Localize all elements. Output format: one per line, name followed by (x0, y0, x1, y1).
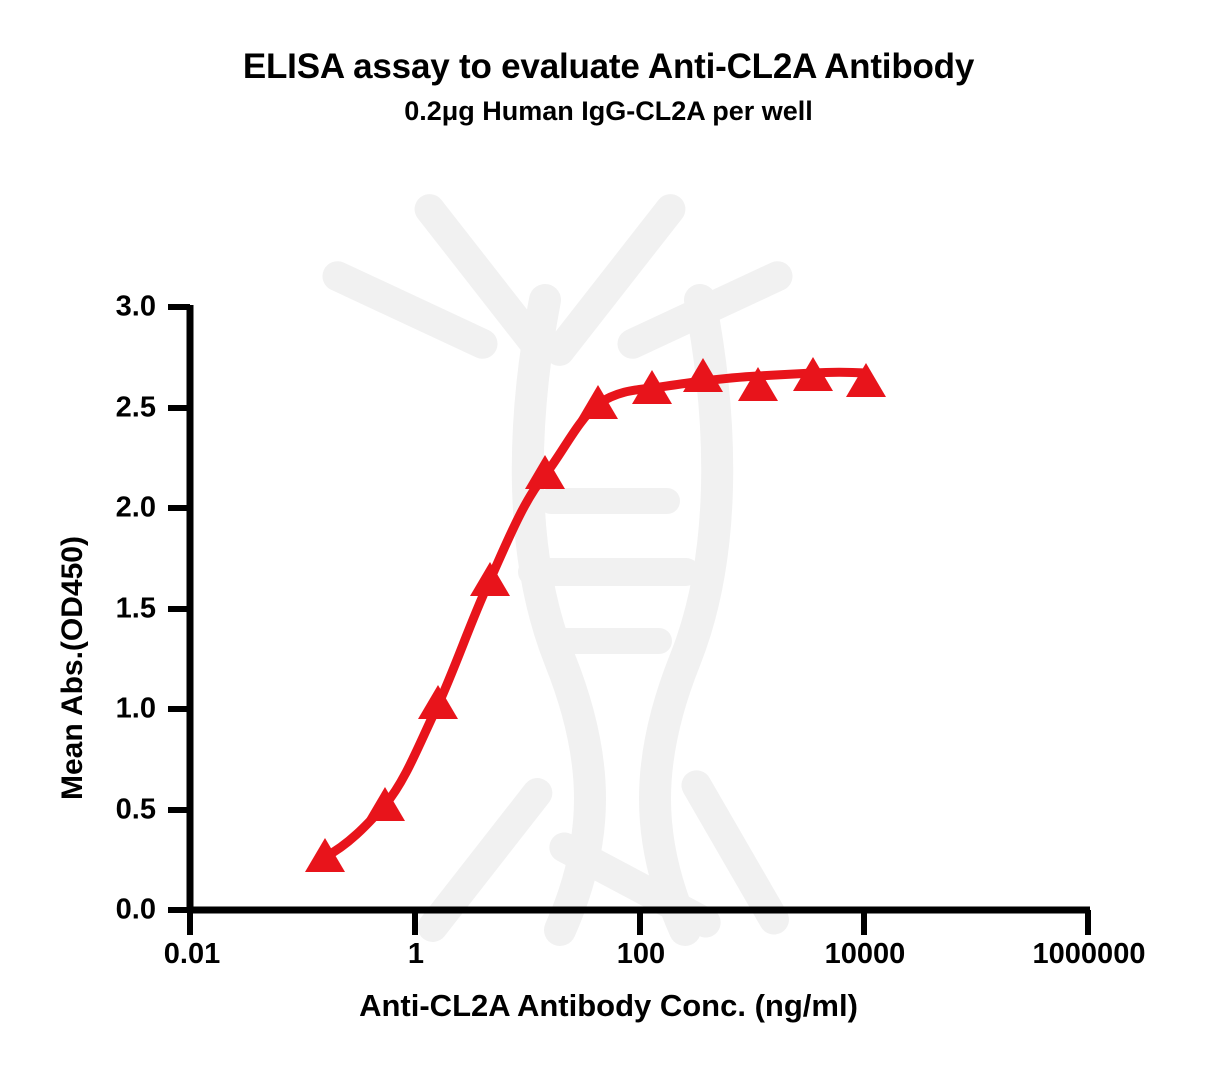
x-tick-label-100: 100 (617, 938, 665, 971)
data-point (470, 562, 510, 596)
data-point (578, 385, 618, 419)
x-tick-label-1000000: 1000000 (1033, 938, 1146, 971)
x-axis-title: Anti-CL2A Antibody Conc. (ng/ml) (0, 988, 1217, 1024)
x-axis-ticks (190, 910, 1088, 935)
y-tick-label-0.0: 0.0 (48, 894, 156, 927)
x-tick-label-10000: 10000 (825, 938, 906, 971)
y-tick-label-2.0: 2.0 (48, 492, 156, 525)
series-line (325, 372, 866, 857)
y-tick-label-3.0: 3.0 (48, 291, 156, 324)
x-tick-label-1: 1 (408, 938, 424, 971)
data-point (418, 685, 458, 719)
plot-canvas (0, 0, 1217, 1075)
y-tick-label-2.5: 2.5 (48, 392, 156, 425)
elisa-chart-figure: ELISA assay to evaluate Anti-CL2A Antibo… (0, 0, 1217, 1075)
y-axis-title: Mean Abs.(OD450) (56, 536, 90, 800)
x-tick-label-0.01: 0.01 (164, 938, 220, 971)
